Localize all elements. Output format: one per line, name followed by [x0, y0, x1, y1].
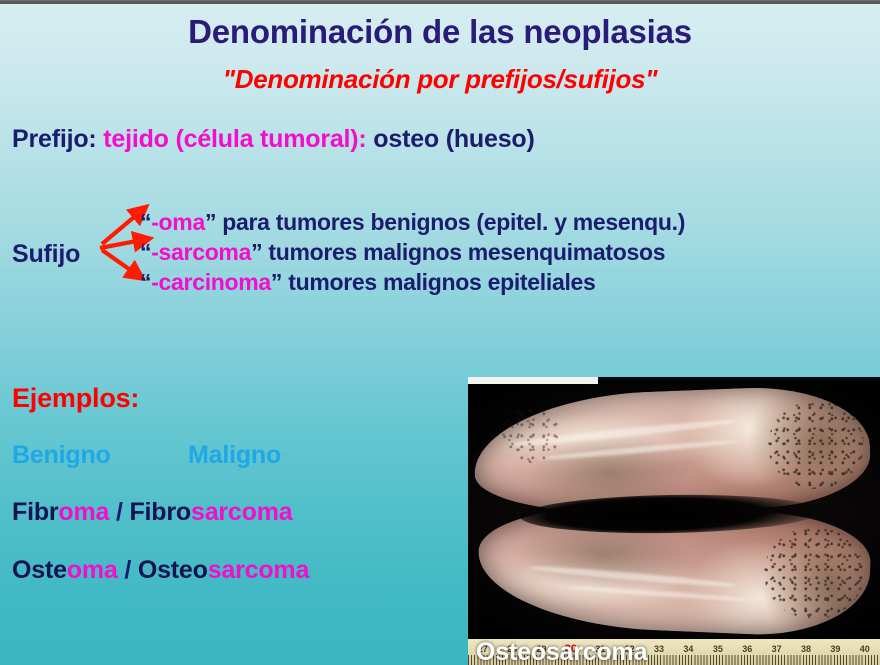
- ruler-mark: 34: [674, 644, 703, 654]
- sufijo-item-sarcoma: “-sarcoma” tumores malignos mesenquimato…: [140, 237, 880, 267]
- ruler-mark: 38: [791, 644, 820, 654]
- example-row-osteoma: Osteoma / Osteosarcoma: [12, 556, 309, 585]
- ruler-mark: 36: [733, 644, 762, 654]
- quote-open: “: [140, 239, 151, 265]
- page-title: Denominación de las neoplasias: [0, 13, 880, 51]
- ruler-mark: 37: [762, 644, 791, 654]
- osteosarcoma-photo: 2728293031323334353637383940 Osteosarcom…: [468, 377, 880, 665]
- ruler-mark: 35: [703, 644, 732, 654]
- quote-close: ”: [271, 269, 282, 295]
- malign-root: Osteo: [138, 556, 208, 584]
- sufijo-description: tumores malignos epiteliales: [282, 269, 595, 295]
- photo-white-strip: [468, 377, 598, 384]
- column-header-maligno: Maligno: [188, 441, 281, 470]
- row-separator: /: [118, 556, 138, 584]
- benign-root: Fibr: [12, 498, 58, 526]
- tumour-speckled-zone: [768, 401, 864, 489]
- row-separator: /: [109, 498, 129, 526]
- sufijo-item-carcinoma: “-carcinoma” tumores malignos epiteliale…: [140, 267, 880, 297]
- example-row-fibroma: Fibroma / Fibrosarcoma: [12, 498, 292, 527]
- quote-close: ”: [205, 209, 216, 235]
- sufijo-description: para tumores benignos (epitel. y mesenqu…: [216, 209, 685, 235]
- ruler-mark: 33: [644, 644, 673, 654]
- benign-suffix: oma: [58, 498, 109, 526]
- sufijo-description: tumores malignos mesenquimatosos: [262, 239, 665, 265]
- quote-open: “: [140, 209, 151, 235]
- sufijo-term: -sarcoma: [151, 239, 251, 265]
- tumour-speckled-zone: [764, 527, 864, 619]
- quote-open: “: [140, 269, 151, 295]
- malign-root: Fibro: [129, 498, 191, 526]
- prefijo-highlight: tejido (célula tumoral):: [97, 125, 367, 153]
- tumour-speckled-zone: [502, 407, 560, 463]
- quote-close: ”: [251, 239, 262, 265]
- photo-caption: Osteosarcoma: [476, 638, 647, 665]
- page-subtitle: "Denominación por prefijos/sufijos": [0, 64, 880, 95]
- benign-suffix: oma: [67, 556, 118, 584]
- prefijo-label: Prefijo:: [12, 125, 97, 153]
- prefijo-line: Prefijo: tejido (célula tumoral): osteo …: [12, 125, 535, 154]
- sufijo-term: -oma: [151, 209, 205, 235]
- ejemplos-heading: Ejemplos:: [12, 383, 139, 414]
- sufijo-item-oma: “-oma” para tumores benignos (epitel. y …: [140, 207, 880, 237]
- malign-suffix: sarcoma: [191, 498, 292, 526]
- sufijo-list: “-oma” para tumores benignos (epitel. y …: [140, 207, 880, 297]
- sufijo-term: -carcinoma: [151, 269, 271, 295]
- sufijo-label: Sufijo: [12, 240, 80, 269]
- benign-root: Oste: [12, 556, 67, 584]
- top-edge-bar: [0, 0, 880, 4]
- ruler-mark: 40: [850, 644, 879, 654]
- prefijo-example: osteo (hueso): [367, 125, 535, 153]
- slide-canvas: Denominación de las neoplasias "Denomina…: [0, 0, 880, 665]
- column-header-benigno: Benigno: [12, 441, 111, 470]
- malign-suffix: sarcoma: [208, 556, 309, 584]
- ruler-mark: 39: [821, 644, 850, 654]
